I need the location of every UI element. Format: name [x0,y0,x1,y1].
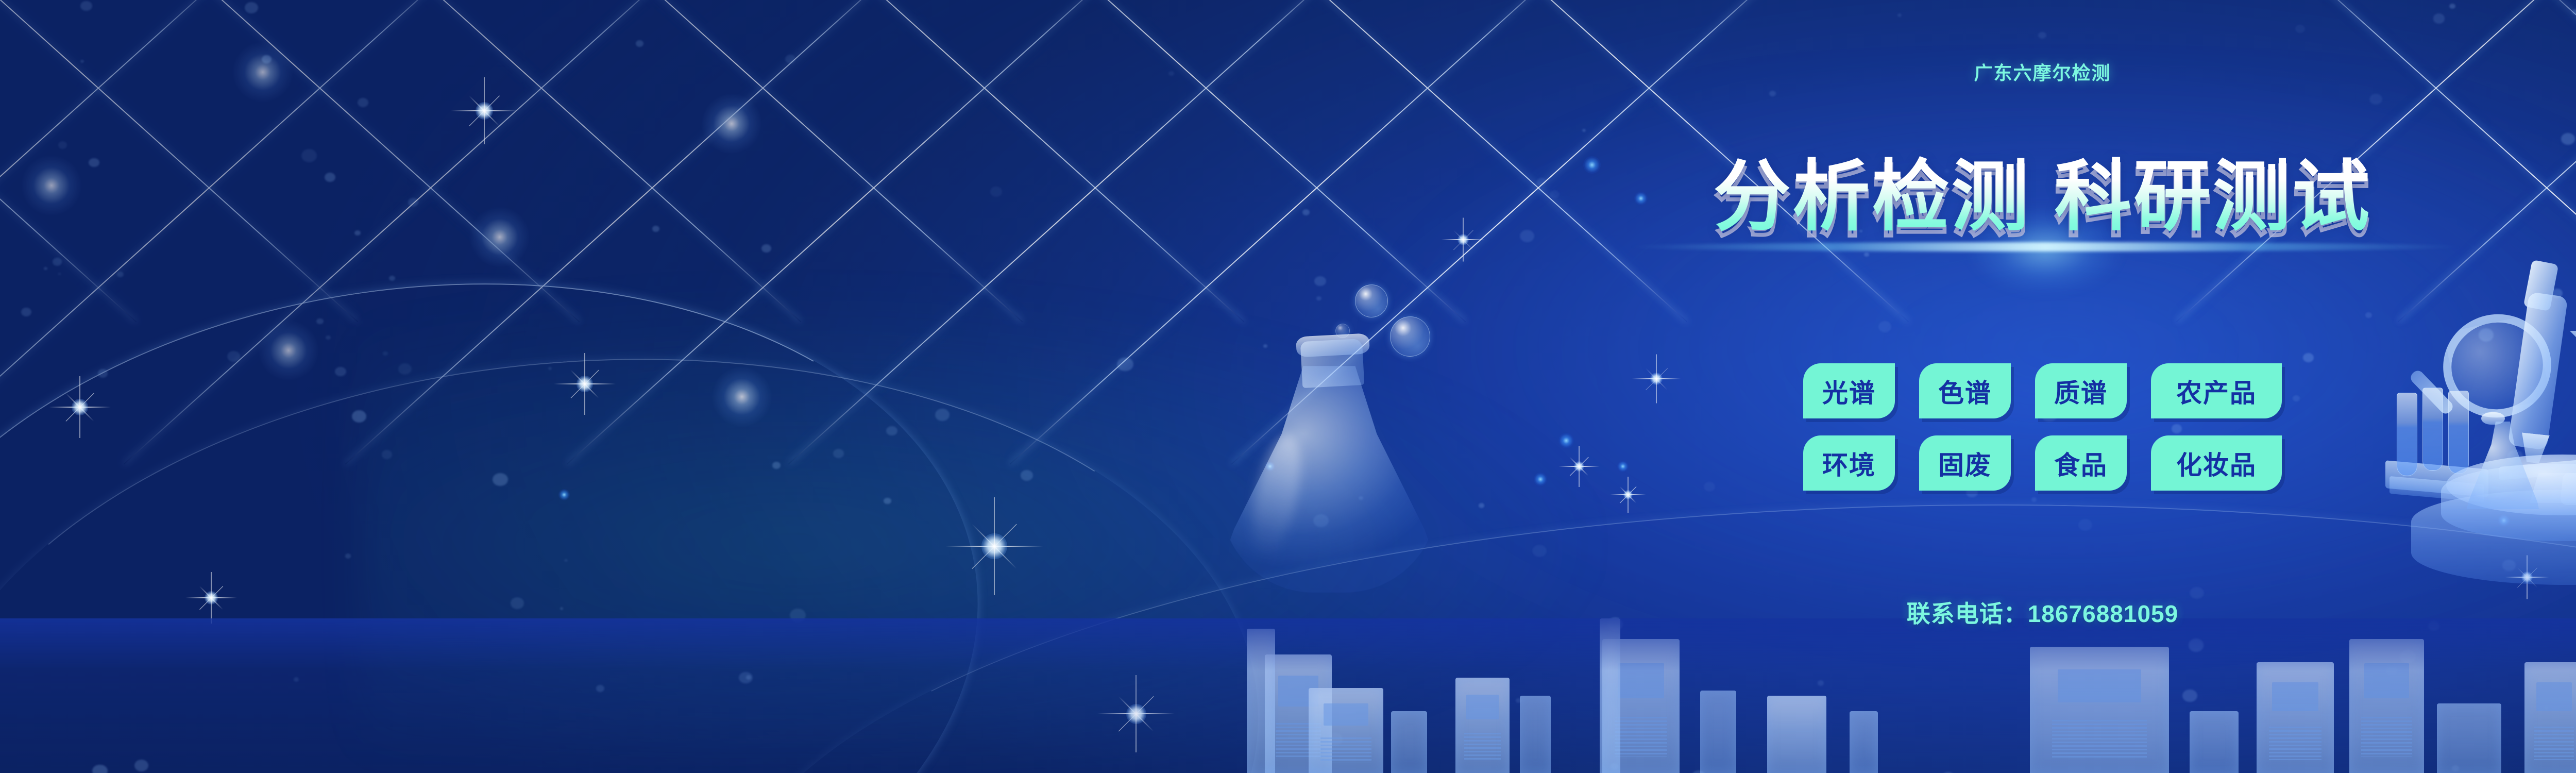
page-title: 分析检测 科研测试 分析检测 科研测试 [0,147,2576,246]
service-tag-food[interactable]: 食品 [2035,435,2127,491]
service-tag-mass-spec[interactable]: 质谱 [2035,363,2127,418]
service-tag-spectroscopy[interactable]: 光谱 [1803,363,1895,418]
service-tag-agriculture[interactable]: 农产品 [2151,363,2282,418]
service-tag-row-1: 光谱 色谱 质谱 农产品 [0,363,2576,418]
headline-text: 分析检测 科研测试 [1714,153,2372,240]
brand-subtitle: 广东六摩尔检测 [0,58,2576,85]
promo-banner: 广东六摩尔检测 分析检测 科研测试 分析检测 科研测试 光谱 色谱 质谱 农产品… [0,0,2576,773]
contact-phone-line[interactable]: 联系电话：18676881059 [0,595,2576,629]
service-tag-row-2: 环境 固废 食品 化妆品 [0,435,2576,491]
service-tag-groups: 光谱 色谱 质谱 农产品 环境 固废 食品 化妆品 [0,363,2576,508]
service-tag-environment[interactable]: 环境 [1803,435,1895,491]
service-tag-solid-waste[interactable]: 固废 [1919,435,2011,491]
service-tag-chromatography[interactable]: 色谱 [1919,363,2011,418]
service-tag-cosmetics[interactable]: 化妆品 [2151,435,2282,491]
